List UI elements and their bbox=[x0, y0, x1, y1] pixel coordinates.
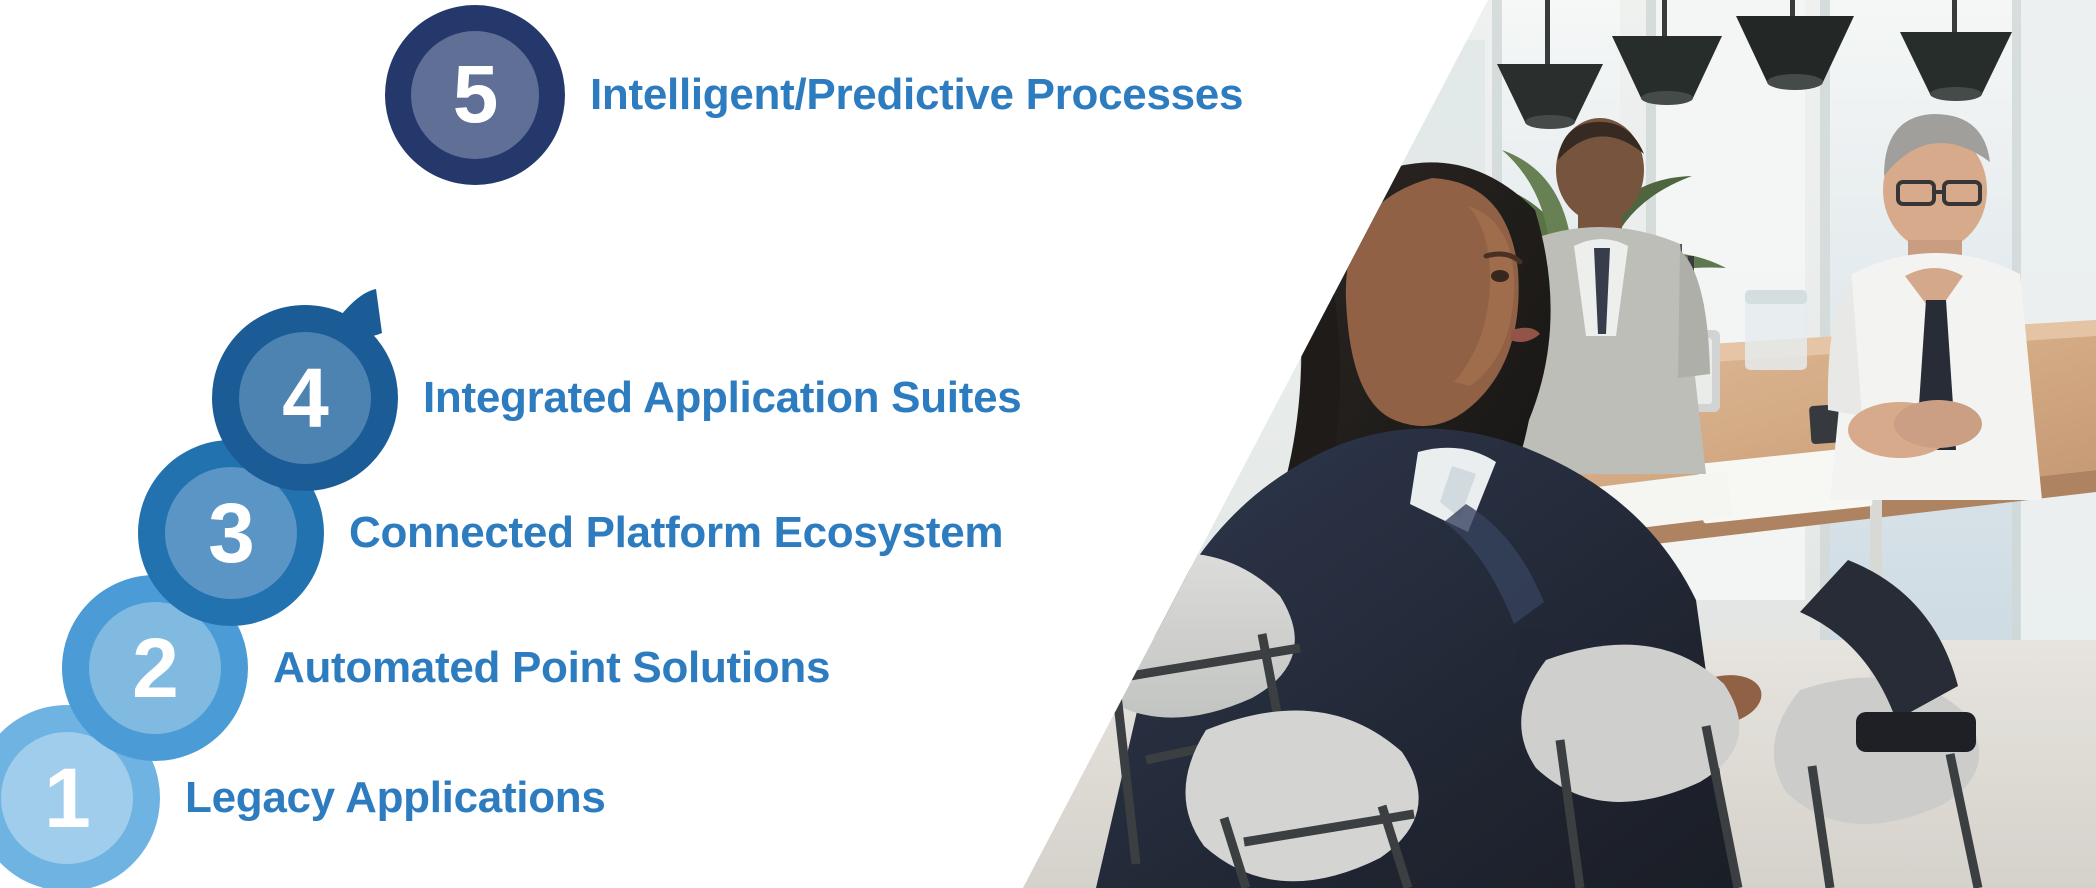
step-3-label: Connected Platform Ecosystem bbox=[349, 510, 1003, 556]
step-2-number: 2 bbox=[132, 626, 178, 710]
step-4[interactable]: 4 Integrated Application Suites bbox=[212, 305, 1021, 491]
step-1-number: 1 bbox=[44, 756, 90, 840]
step-2-label: Automated Point Solutions bbox=[273, 645, 830, 691]
step-4-number: 4 bbox=[282, 356, 328, 440]
step-1-label: Legacy Applications bbox=[185, 775, 606, 821]
step-3-number: 3 bbox=[208, 491, 254, 575]
step-5-number: 5 bbox=[453, 54, 498, 136]
step-5[interactable]: 5 Intelligent/Predictive Processes bbox=[385, 5, 1243, 185]
step-5-badge[interactable]: 5 bbox=[385, 5, 565, 185]
step-5-label: Intelligent/Predictive Processes bbox=[590, 72, 1243, 118]
step-4-badge[interactable]: 4 bbox=[212, 305, 398, 491]
slide-canvas: 1 Legacy Applications 2 Automated Point … bbox=[0, 0, 2096, 888]
step-4-label: Integrated Application Suites bbox=[423, 375, 1021, 421]
